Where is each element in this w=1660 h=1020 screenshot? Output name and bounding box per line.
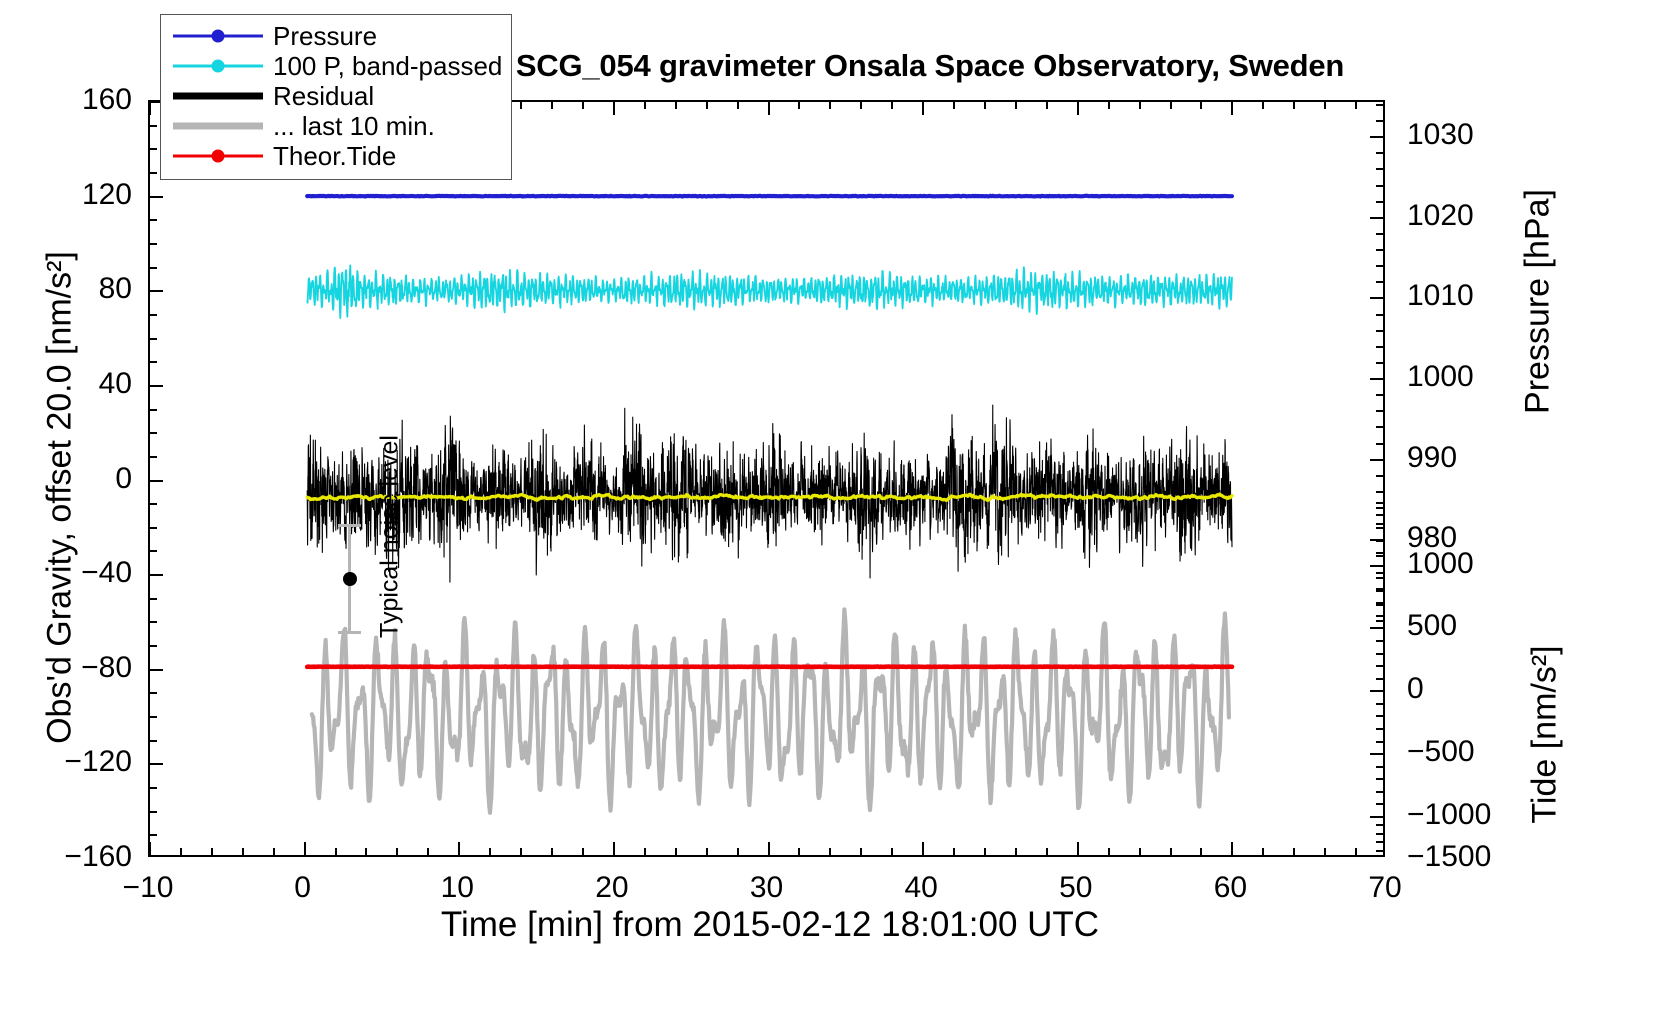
axis-tick [1376, 104, 1383, 106]
right-tick-label-pressure: 1030 [1407, 118, 1537, 152]
axis-tick [150, 716, 157, 718]
legend-label: 100 P, band-passed [267, 51, 502, 82]
axis-tick [150, 409, 157, 411]
axis-tick [829, 848, 831, 855]
axis-tick [1046, 848, 1048, 855]
errorbar-cap-top [338, 524, 361, 527]
legend: Pressure100 P, band-passedResidual... la… [160, 14, 512, 180]
axis-tick [150, 385, 163, 387]
axis-tick [1108, 102, 1110, 109]
chart-root: SCG_054 gravimeter Onsala Space Observat… [0, 0, 1660, 1020]
axis-tick [675, 848, 677, 855]
axis-tick [150, 243, 157, 245]
axis-tick [1376, 330, 1383, 332]
axis-tick [150, 338, 157, 340]
axis-tick [1376, 590, 1383, 592]
plot-area: The latest 1-hour, 1-second sampling End… [148, 100, 1385, 857]
axis-tick [1376, 514, 1383, 516]
axis-tick [150, 550, 157, 552]
axis-tick [984, 102, 986, 109]
axis-tick [150, 692, 157, 694]
axis-tick [953, 102, 955, 109]
bottom-tick-label: 10 [441, 871, 474, 905]
axis-tick [242, 848, 244, 855]
bottom-tick-label: 50 [1059, 871, 1092, 905]
axis-tick [150, 763, 163, 765]
axis-tick [150, 148, 157, 150]
axis-tick [1015, 102, 1017, 109]
y-axis-title-tide: Tide [nm/s²] [1526, 570, 1565, 900]
axis-tick [984, 848, 986, 855]
axis-tick [150, 480, 163, 482]
axis-tick [1046, 102, 1048, 109]
right-tick-label-pressure: 990 [1407, 441, 1537, 475]
legend-item-bandpassed[interactable]: 100 P, band-passed [169, 51, 503, 81]
axis-tick [1077, 842, 1079, 855]
axis-tick [1376, 362, 1383, 364]
axis-tick [211, 848, 213, 855]
axis-tick [458, 842, 460, 855]
axis-tick [953, 848, 955, 855]
typical-noise-errorbar [330, 524, 370, 634]
axis-tick [891, 848, 893, 855]
axis-tick [1370, 753, 1383, 755]
axis-tick [1376, 703, 1383, 705]
axis-tick [613, 842, 615, 855]
axis-tick [1376, 491, 1383, 493]
axis-tick [335, 848, 337, 855]
legend-line [173, 123, 263, 130]
axis-tick [1262, 102, 1264, 109]
axis-tick [1376, 728, 1383, 730]
axis-tick [1376, 185, 1383, 187]
axis-tick [1376, 841, 1383, 843]
axis-tick [582, 848, 584, 855]
axis-tick [1376, 778, 1383, 780]
axis-tick [644, 102, 646, 109]
legend-marker-dot [212, 60, 225, 73]
axis-tick [1376, 152, 1383, 154]
right-tick-label-tide: 500 [1407, 609, 1537, 643]
axis-tick [1370, 136, 1383, 138]
axis-tick [644, 848, 646, 855]
axis-tick [150, 645, 157, 647]
axis-tick [922, 102, 924, 115]
axis-tick [150, 219, 157, 221]
axis-tick [551, 102, 553, 109]
axis-tick [1376, 850, 1383, 852]
axis-tick [520, 848, 522, 855]
legend-swatch [169, 141, 267, 171]
axis-tick [150, 267, 157, 269]
y-axis-title-gravity: Obs'd Gravity, offset 20.0 [nm/s²] [41, 138, 80, 858]
axis-tick [737, 848, 739, 855]
axis-tick [1376, 741, 1383, 743]
legend-item-last10min[interactable]: ... last 10 min. [169, 111, 503, 141]
axis-tick [304, 842, 306, 855]
axis-tick [1376, 527, 1383, 529]
axis-tick [1376, 475, 1383, 477]
axis-tick [1376, 346, 1383, 348]
bottom-tick-label: 30 [750, 871, 783, 905]
axis-tick [1293, 848, 1295, 855]
axis-tick [150, 290, 163, 292]
bottom-tick-label: −10 [123, 871, 174, 905]
legend-item-residual[interactable]: Residual [169, 81, 503, 111]
axis-tick [1376, 426, 1383, 428]
legend-swatch [169, 51, 267, 81]
axis-tick [1139, 102, 1141, 109]
axis-tick [1376, 620, 1383, 622]
axis-tick [1355, 848, 1357, 855]
axis-tick [1376, 507, 1383, 509]
axis-tick [1370, 627, 1383, 629]
axis-tick [1376, 678, 1383, 680]
axis-tick [150, 527, 157, 529]
axis-tick [1376, 120, 1383, 122]
axis-tick [149, 102, 151, 115]
axis-tick [551, 848, 553, 855]
right-tick-label-tide: 1000 [1407, 547, 1537, 581]
axis-tick [1376, 791, 1383, 793]
axis-tick [150, 834, 157, 836]
legend-swatch [169, 21, 267, 51]
bottom-tick-label: 70 [1368, 871, 1401, 905]
bottom-tick-label: 60 [1214, 871, 1247, 905]
axis-tick [1376, 523, 1383, 525]
right-tick-label-tide: 0 [1407, 672, 1537, 706]
legend-line [173, 93, 263, 100]
axis-tick [489, 848, 491, 855]
axis-tick [1170, 848, 1172, 855]
bottom-tick-label: 20 [595, 871, 628, 905]
legend-swatch [169, 81, 267, 111]
axis-tick [1376, 615, 1383, 617]
axis-tick [706, 848, 708, 855]
right-tick-label-tide: −1500 [1407, 840, 1537, 874]
right-tick-label-tide: −500 [1407, 735, 1537, 769]
data-traces [150, 102, 1383, 855]
errorbar-center-dot [343, 572, 357, 586]
axis-tick [1293, 102, 1295, 109]
axis-tick [150, 361, 157, 363]
legend-label: ... last 10 min. [267, 111, 435, 142]
legend-label: Pressure [267, 21, 377, 52]
axis-tick [1231, 842, 1233, 855]
axis-tick [891, 102, 893, 109]
axis-tick [798, 102, 800, 109]
axis-tick [1077, 102, 1079, 115]
axis-tick [150, 432, 157, 434]
axis-tick [520, 102, 522, 109]
axis-tick [1231, 102, 1233, 115]
axis-tick [1376, 249, 1383, 251]
axis-tick [1376, 824, 1383, 826]
axis-tick [613, 102, 615, 115]
axis-tick [1015, 848, 1017, 855]
axis-tick [149, 842, 151, 855]
axis-tick [706, 102, 708, 109]
axis-tick [1370, 690, 1383, 692]
axis-tick [273, 848, 275, 855]
legend-label: Theor.Tide [267, 141, 396, 172]
left-tick-label: 160 [10, 83, 132, 117]
right-tick-label-tide: −1000 [1407, 798, 1537, 832]
axis-tick [1376, 265, 1383, 267]
axis-tick [1370, 565, 1383, 567]
errorbar-cap-bottom [338, 631, 361, 634]
axis-tick [150, 456, 157, 458]
axis-tick [365, 848, 367, 855]
typical-noise-label: Typical noise level [376, 417, 405, 657]
axis-tick [150, 314, 157, 316]
axis-tick [1376, 665, 1383, 667]
axis-tick [1324, 102, 1326, 109]
axis-tick [1376, 715, 1383, 717]
axis-tick [150, 740, 157, 742]
legend-item-theortide[interactable]: Theor.Tide [169, 141, 503, 171]
bottom-tick-label: 0 [294, 871, 311, 905]
axis-tick [1376, 803, 1383, 805]
axis-tick [150, 503, 157, 505]
axis-tick [150, 125, 157, 127]
axis-tick [150, 598, 157, 600]
right-tick-label-pressure: 1020 [1407, 199, 1537, 233]
legend-label: Residual [267, 81, 374, 112]
axis-tick [582, 102, 584, 109]
axis-tick [1139, 848, 1141, 855]
legend-marker-dot [212, 150, 225, 163]
axis-tick [1376, 602, 1383, 604]
axis-tick [1376, 201, 1383, 203]
axis-tick [1376, 540, 1383, 542]
axis-tick [396, 848, 398, 855]
axis-tick [1370, 217, 1383, 219]
axis-tick [1376, 577, 1383, 579]
legend-item-pressure[interactable]: Pressure [169, 21, 503, 51]
right-tick-label-pressure: 1010 [1407, 279, 1537, 313]
axis-tick [1262, 848, 1264, 855]
axis-tick [1376, 552, 1383, 554]
axis-tick [150, 787, 157, 789]
axis-tick [150, 811, 157, 813]
axis-tick [1370, 816, 1383, 818]
axis-tick [1376, 640, 1383, 642]
axis-tick [1376, 572, 1383, 574]
axis-tick [150, 621, 157, 623]
axis-tick [1376, 168, 1383, 170]
series-last-10-min [312, 609, 1229, 812]
axis-tick [1370, 297, 1383, 299]
axis-tick [1324, 848, 1326, 855]
legend-swatch [169, 111, 267, 141]
axis-tick [1376, 766, 1383, 768]
axis-tick [922, 842, 924, 855]
y-axis-title-pressure: Pressure [hPa] [1519, 82, 1558, 522]
axis-tick [1370, 378, 1383, 380]
axis-tick [1376, 233, 1383, 235]
x-axis-title: Time [min] from 2015-02-12 18:01:00 UTC [0, 905, 1540, 945]
axis-tick [1376, 281, 1383, 283]
axis-tick [1376, 653, 1383, 655]
axis-tick [150, 574, 163, 576]
axis-tick [860, 102, 862, 109]
axis-tick [675, 102, 677, 109]
axis-tick [768, 842, 770, 855]
bottom-tick-label: 40 [904, 871, 937, 905]
axis-tick [1200, 848, 1202, 855]
axis-tick [1376, 502, 1383, 504]
legend-marker-dot [212, 30, 225, 43]
axis-tick [1170, 102, 1172, 109]
axis-tick [150, 172, 157, 174]
axis-tick [1376, 410, 1383, 412]
axis-tick [1370, 459, 1383, 461]
axis-tick [737, 102, 739, 109]
axis-tick [798, 848, 800, 855]
axis-tick [1200, 102, 1202, 109]
axis-tick [768, 102, 770, 115]
axis-tick [1376, 555, 1383, 557]
series-pressure [307, 196, 1232, 197]
axis-tick [1376, 394, 1383, 396]
axis-tick [829, 102, 831, 109]
axis-tick [860, 848, 862, 855]
axis-tick [1108, 848, 1110, 855]
axis-tick [1355, 102, 1357, 109]
axis-tick [150, 196, 163, 198]
series-residual [307, 405, 1232, 582]
axis-tick [427, 848, 429, 855]
chart-title: SCG_054 gravimeter Onsala Space Observat… [430, 48, 1430, 84]
axis-tick [180, 848, 182, 855]
axis-tick [1376, 314, 1383, 316]
axis-tick [1376, 443, 1383, 445]
axis-tick [1376, 833, 1383, 835]
axis-tick [150, 669, 163, 671]
right-tick-label-pressure: 1000 [1407, 360, 1537, 394]
series-theor-tide [307, 666, 1232, 667]
series-band-passed [307, 265, 1232, 318]
